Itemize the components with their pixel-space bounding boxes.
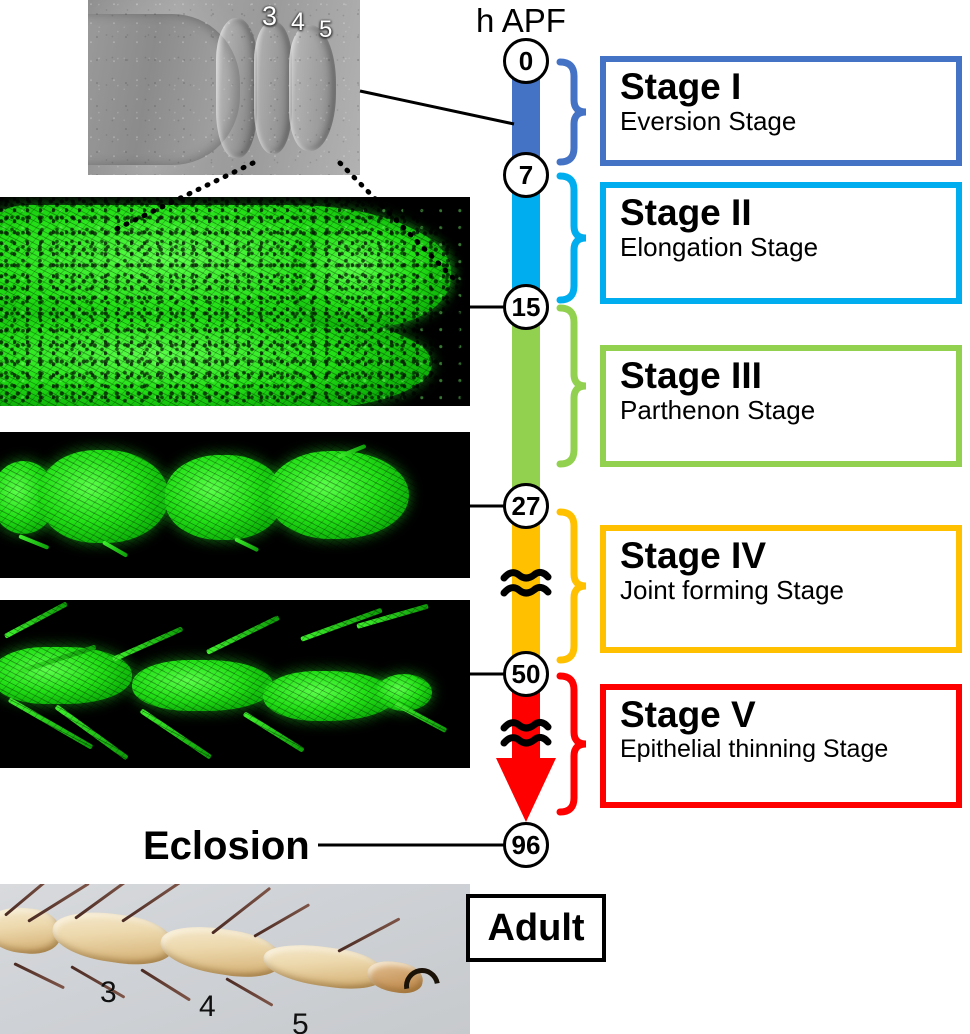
adult-hair-6 — [253, 903, 310, 938]
stage-5-title: Stage V — [620, 696, 956, 735]
dic-segment-label-4: 4 — [291, 8, 305, 37]
panel-dic-prepupa: 3 4 5 — [88, 0, 360, 175]
stage-box-2[interactable]: Stage II Elongation Stage — [600, 182, 962, 304]
stage-box-1[interactable]: Stage I Eversion Stage — [600, 56, 962, 166]
stage-box-5[interactable]: Stage V Epithelial thinning Stage — [600, 684, 962, 808]
stage-2-title: Stage II — [620, 194, 956, 233]
timeline-segment-stage-3 — [512, 302, 540, 504]
stage-1-title: Stage I — [620, 68, 956, 107]
adult-segment-3 — [49, 906, 177, 971]
stage-4-title: Stage IV — [620, 537, 956, 576]
brace-stage-3 — [560, 308, 586, 464]
brace-stage-1 — [560, 62, 586, 162]
brace-stage-4 — [560, 512, 586, 660]
timeline-break-symbol-stage-5 — [498, 712, 554, 756]
brace-stage-5 — [560, 676, 586, 812]
adult-hair-10 — [140, 968, 191, 1001]
eclosion-label: Eclosion — [143, 824, 310, 869]
stage-2-subtitle: Elongation Stage — [620, 233, 956, 263]
adult-segment-label-3: 3 — [100, 976, 117, 1010]
panel-gfp-27h — [0, 432, 470, 578]
panel-gfp-15h — [0, 197, 470, 406]
timeline-axis-header: h APF — [476, 2, 566, 40]
adult-segment-label-5: 5 — [292, 1008, 309, 1034]
leader-line-0h — [360, 91, 514, 124]
stage-5-subtitle: Epithelial thinning Stage — [620, 735, 956, 764]
timepoint-marker-50[interactable]: 50 — [503, 651, 549, 697]
figure-root: 3 4 5 — [0, 0, 970, 1034]
stage-box-4[interactable]: Stage IV Joint forming Stage — [600, 525, 962, 653]
timepoint-marker-96[interactable]: 96 — [503, 822, 549, 868]
gfp15-surface-texture — [0, 197, 470, 406]
adult-label-box[interactable]: Adult — [466, 894, 606, 962]
timepoint-marker-0[interactable]: 0 — [503, 38, 549, 84]
stage-box-3[interactable]: Stage III Parthenon Stage — [600, 345, 962, 467]
adult-label: Adult — [487, 907, 584, 950]
timeline-arrowhead — [496, 758, 556, 822]
timepoint-marker-27[interactable]: 27 — [503, 483, 549, 529]
adult-hair-5 — [211, 887, 271, 935]
gfp50-surface-texture — [0, 600, 470, 768]
timepoint-marker-15[interactable]: 15 — [503, 284, 549, 330]
adult-segment-label-4: 4 — [199, 990, 216, 1024]
adult-hair-8 — [13, 962, 65, 989]
stage-3-subtitle: Parthenon Stage — [620, 396, 956, 426]
timepoint-marker-7[interactable]: 7 — [503, 152, 549, 198]
stage-4-subtitle: Joint forming Stage — [620, 576, 956, 606]
stage-1-subtitle: Eversion Stage — [620, 107, 956, 137]
adult-hair-4 — [121, 884, 181, 923]
gfp27-surface-texture — [0, 432, 470, 578]
dic-segment-label-5: 5 — [319, 16, 332, 44]
panel-adult-leg: 3 4 5 — [0, 884, 470, 1034]
panel-gfp-50h — [0, 600, 470, 768]
adult-hair-7 — [338, 917, 401, 953]
brace-stage-2 — [560, 176, 586, 300]
dic-segment-label-3: 3 — [262, 1, 277, 32]
timeline-break-symbol-stage-4 — [498, 562, 554, 606]
adult-hair-11 — [225, 977, 273, 1007]
stage-3-title: Stage III — [620, 357, 956, 396]
